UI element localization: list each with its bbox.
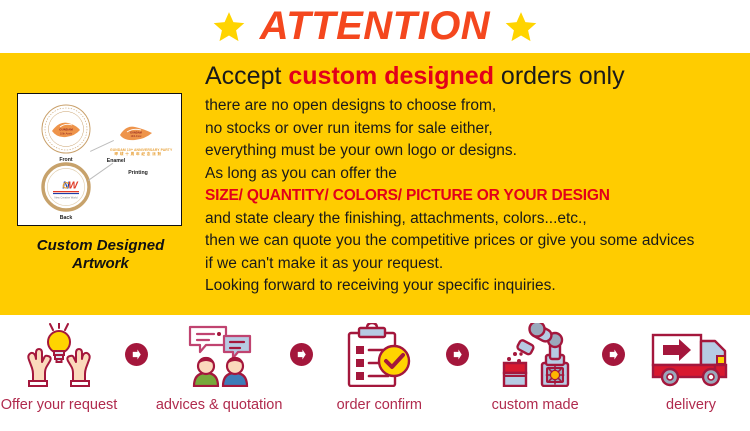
step-arrow [438,315,476,387]
step-arrow [594,315,632,387]
message-line: Looking forward to receiving your specif… [205,275,740,298]
artwork-caption: Custom Designed Artwork [17,237,184,273]
artwork-label-back: Back [40,215,92,221]
headline-after: orders only [494,62,625,90]
header: ATTENTION [0,0,750,53]
step-custom-made: custom made [476,315,594,414]
headline: Accept custom designed orders only [205,60,740,92]
svg-text:C: C [62,181,69,191]
message-line: if we can't make it as your request. [205,253,740,276]
message-line-emphasis: SIZE/ QUANTITY/ COLORS/ PICTURE OR YOUR … [205,185,740,208]
hands-lightbulb-icon [16,321,102,387]
artwork-caption-line1: Custom Designed [17,237,184,255]
arrow-right-icon [602,343,625,366]
step-label: custom made [492,396,579,414]
step-arrow [282,315,320,387]
print-text-cn: 玾 球 十 周 年 紀 念 派 對 [110,152,166,157]
page-title: ATTENTION [260,6,490,46]
people-chat-icon [176,321,262,387]
delivery-truck-icon [645,321,737,387]
robot-arm-icon [492,321,578,387]
step-order-confirm: order confirm [320,315,438,414]
message-line: no stocks or over run items for sale eit… [205,118,740,141]
yellow-banner: GUNDAM 10th Anniv Front N W C New Creati… [0,53,750,315]
svg-text:GUNDAM: GUNDAM [59,127,73,131]
message-line: there are no open designs to choose from… [205,95,740,118]
star-icon [212,10,246,44]
star-icon [504,10,538,44]
message-line: and state cleary the finishing, attachme… [205,208,740,231]
step-offer-your-request: Offer your request [0,315,118,414]
artwork-label-printing: Printing [112,170,164,176]
arrow-right-icon [125,343,148,366]
step-advices-quotation: advices & quotation [156,315,283,414]
step-label: delivery [666,396,716,414]
artwork-block: GUNDAM 10th Anniv Front N W C New Creati… [17,93,184,273]
svg-text:W: W [68,181,79,192]
artwork-label-enamel: Enamel [94,158,138,164]
step-delivery: delivery [632,315,750,414]
process-steps: Offer your request [0,315,750,431]
svg-text:GUNDAM: GUNDAM [130,131,142,135]
front-badge-graphic: GUNDAM 10th Anniv [40,103,92,155]
message-line: then we can quote you the competitive pr… [205,230,740,253]
attention-banner: ATTENTION GUNDAM 10th Anniv Front [0,0,750,431]
artwork-image: GUNDAM 10th Anniv Front N W C New Creati… [17,93,182,226]
step-arrow [118,315,156,387]
headline-before: Accept [205,62,288,90]
svg-text:10th Anniv: 10th Anniv [131,135,143,138]
step-label: Offer your request [1,396,118,414]
artwork-caption-line2: Artwork [17,255,184,273]
clipboard-check-icon [336,321,422,387]
message-text-column: Accept custom designed orders only there… [205,60,740,298]
print-logo-graphic: GUNDAM 10th Anniv [118,121,154,143]
arrow-right-icon [290,343,313,366]
svg-text:10th Anniv: 10th Anniv [60,132,73,136]
print-caption-block: GUNDAM 10ᵗʰ ANNIVERSARY PARTY 玾 球 十 周 年 … [110,148,166,157]
step-label: order confirm [337,396,422,414]
message-line: everything must be your own logo or desi… [205,140,740,163]
arrow-right-icon [446,343,469,366]
step-label: advices & quotation [156,396,283,414]
headline-highlight: custom designed [288,62,494,90]
message-line: As long as you can offer the [205,163,740,186]
svg-text:New Creative World: New Creative World [54,195,78,199]
back-badge-graphic: N W C New Creative World [41,162,91,212]
connector-line [88,163,113,181]
